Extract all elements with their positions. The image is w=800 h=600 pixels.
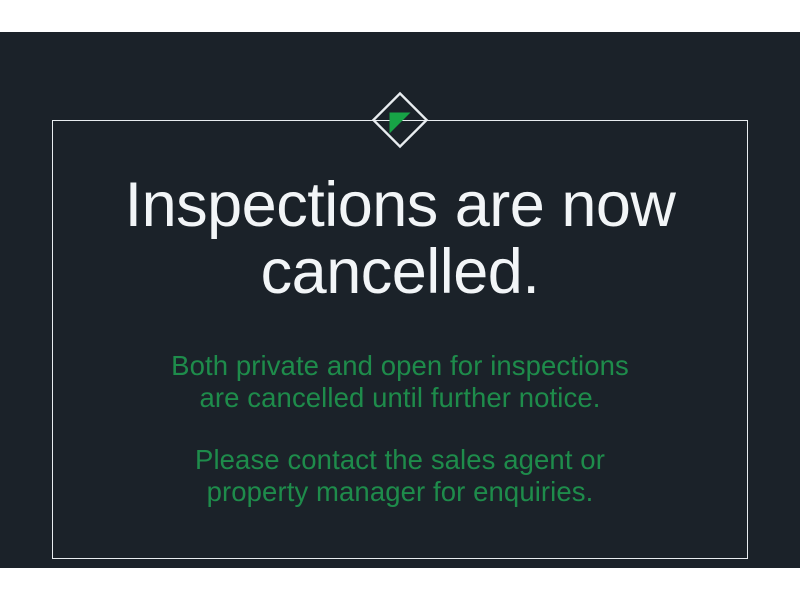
crest-rule-right (458, 120, 583, 121)
crest-lockup (52, 88, 748, 152)
brand-lockup: OBrien CLARK (580, 567, 800, 568)
page-title: Inspections are now cancelled. (52, 172, 748, 307)
notice-paragraph-1: Both private and open for inspections ar… (52, 350, 748, 414)
notice-banner: Inspections are now cancelled. Both priv… (0, 32, 800, 568)
slide-canvas: Inspections are now cancelled. Both priv… (0, 0, 800, 600)
diamond-outline-icon (368, 88, 432, 152)
notice-body: Both private and open for inspections ar… (52, 350, 748, 508)
notice-paragraph-2: Please contact the sales agent or proper… (52, 444, 748, 508)
crest-rule-left (217, 120, 342, 121)
